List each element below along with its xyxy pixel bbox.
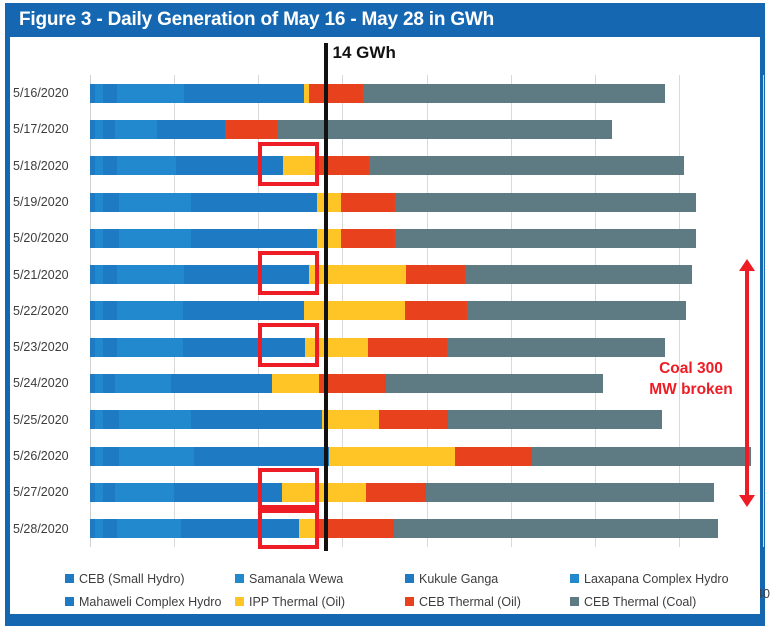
bar-segment[interactable] xyxy=(465,265,692,284)
legend-item[interactable]: CEB (Small Hydro) xyxy=(65,572,185,586)
bar-segment[interactable] xyxy=(191,229,317,248)
bar-segment[interactable] xyxy=(447,338,666,357)
bar-segment[interactable] xyxy=(103,120,115,139)
bar-segment[interactable] xyxy=(119,193,191,212)
legend-item[interactable]: CEB Thermal (Coal) xyxy=(570,595,696,609)
y-axis-category-label: 5/20/2020 xyxy=(13,220,89,256)
legend-item-label: CEB Thermal (Coal) xyxy=(584,595,696,609)
y-axis-category-label: 5/18/2020 xyxy=(13,148,89,184)
bar-segment[interactable] xyxy=(455,447,532,466)
bar-segment[interactable] xyxy=(103,193,118,212)
annotation-arrow-head-up xyxy=(739,259,755,271)
bar-row: 5/22/2020 xyxy=(90,293,763,329)
bar-segment[interactable] xyxy=(317,229,341,248)
stacked-bar[interactable] xyxy=(90,193,696,212)
bar-segment[interactable] xyxy=(329,447,455,466)
y-axis-category-label: 5/16/2020 xyxy=(13,75,89,111)
bar-row: 5/19/2020 xyxy=(90,184,763,220)
bar-segment[interactable] xyxy=(115,374,171,393)
bar-segment[interactable] xyxy=(95,265,103,284)
legend-swatch-icon xyxy=(235,574,244,583)
figure-title-bar: Figure 3 - Daily Generation of May 16 - … xyxy=(5,3,765,37)
bar-row: 5/26/2020 xyxy=(90,438,763,474)
bar-segment[interactable] xyxy=(103,338,116,357)
bar-row: 5/16/2020 xyxy=(90,75,763,111)
bar-segment[interactable] xyxy=(117,84,184,103)
legend-item-label: Laxapana Complex Hydro xyxy=(584,572,729,586)
bar-segment[interactable] xyxy=(119,410,191,429)
stacked-bar[interactable] xyxy=(90,374,603,393)
bar-segment[interactable] xyxy=(103,447,118,466)
highlight-rectangle xyxy=(258,323,319,367)
legend-item-label: Mahaweli Complex Hydro xyxy=(79,595,221,609)
bar-segment[interactable] xyxy=(395,193,696,212)
highlight-rectangle xyxy=(258,505,319,549)
legend-item[interactable]: Mahaweli Complex Hydro xyxy=(65,595,221,609)
legend-item[interactable]: CEB Thermal (Oil) xyxy=(405,595,521,609)
bar-segment[interactable] xyxy=(119,229,191,248)
bar-segment[interactable] xyxy=(194,447,329,466)
bar-segment[interactable] xyxy=(115,120,157,139)
bar-segment[interactable] xyxy=(95,301,103,320)
bar-segment[interactable] xyxy=(386,374,603,393)
bar-segment[interactable] xyxy=(379,410,448,429)
y-axis-category-label: 5/28/2020 xyxy=(13,511,89,547)
y-axis-category-label: 5/22/2020 xyxy=(13,293,89,329)
stacked-bar[interactable] xyxy=(90,301,686,320)
bar-segment[interactable] xyxy=(95,193,103,212)
stacked-bar[interactable] xyxy=(90,120,612,139)
bar-segment[interactable] xyxy=(103,265,116,284)
gridline-x-40 xyxy=(763,75,764,547)
y-axis-category-label: 5/27/2020 xyxy=(13,474,89,510)
bar-segment[interactable] xyxy=(119,447,195,466)
stacked-bar[interactable] xyxy=(90,519,718,538)
bar-segment[interactable] xyxy=(184,84,303,103)
bar-segment[interactable] xyxy=(103,374,115,393)
figure-bottom-strip xyxy=(5,614,765,626)
legend-swatch-icon xyxy=(65,574,74,583)
annotation-text: Coal 300MW broken xyxy=(645,359,737,401)
legend-item[interactable]: Samanala Wewa xyxy=(235,572,343,586)
bar-segment[interactable] xyxy=(319,374,386,393)
legend-item-label: CEB Thermal (Oil) xyxy=(419,595,521,609)
legend-swatch-icon xyxy=(235,597,244,606)
bar-segment[interactable] xyxy=(117,301,183,320)
bar-segment[interactable] xyxy=(95,120,103,139)
bar-segment[interactable] xyxy=(103,156,116,175)
bar-segment[interactable] xyxy=(369,156,684,175)
bar-segment[interactable] xyxy=(368,338,447,357)
legend-item[interactable]: Kukule Ganga xyxy=(405,572,498,586)
annotation-text-line1: Coal 300 xyxy=(645,359,737,380)
stacked-bar[interactable] xyxy=(90,84,665,103)
bar-segment[interactable] xyxy=(406,265,465,284)
legend-swatch-icon xyxy=(405,574,414,583)
bar-row: 5/25/2020 xyxy=(90,402,763,438)
figure-container: Figure 3 - Daily Generation of May 16 - … xyxy=(0,0,770,629)
bar-segment[interactable] xyxy=(309,84,363,103)
bar-segment[interactable] xyxy=(103,84,116,103)
bar-segment[interactable] xyxy=(103,229,118,248)
bar-segment[interactable] xyxy=(225,120,277,139)
bar-segment[interactable] xyxy=(322,410,379,429)
legend-row-top: CEB (Small Hydro)Samanala WewaKukule Gan… xyxy=(10,567,760,590)
page-title: Figure 3 - Daily Generation of May 16 - … xyxy=(19,9,494,31)
legend-swatch-icon xyxy=(570,574,579,583)
bar-segment[interactable] xyxy=(191,410,322,429)
annotation-arrow-shaft xyxy=(745,269,749,497)
bar-segment[interactable] xyxy=(448,410,662,429)
legend-swatch-icon xyxy=(405,597,414,606)
bar-segment[interactable] xyxy=(341,193,395,212)
bar-segment[interactable] xyxy=(103,410,118,429)
legend-item[interactable]: Laxapana Complex Hydro xyxy=(570,572,729,586)
bar-segment[interactable] xyxy=(103,483,115,502)
annotation-text-line2: MW broken xyxy=(645,380,737,401)
stacked-bar[interactable] xyxy=(90,229,696,248)
bar-segment[interactable] xyxy=(95,374,103,393)
y-axis-category-label: 5/26/2020 xyxy=(13,438,89,474)
threshold-label: 14 GWh xyxy=(333,43,396,63)
bar-segment[interactable] xyxy=(467,301,686,320)
bar-row: 5/28/2020 xyxy=(90,511,763,547)
legend-item-label: CEB (Small Hydro) xyxy=(79,572,185,586)
bar-segment[interactable] xyxy=(95,483,103,502)
plot-area: 05101520253035405/16/20205/17/20205/18/2… xyxy=(90,75,763,547)
bar-segment[interactable] xyxy=(395,229,696,248)
stacked-bar[interactable] xyxy=(90,410,662,429)
stacked-bar[interactable] xyxy=(90,265,692,284)
bar-segment[interactable] xyxy=(95,410,103,429)
bar-segment[interactable] xyxy=(272,374,319,393)
highlight-rectangle xyxy=(258,142,319,186)
bar-row: 5/21/2020 xyxy=(90,257,763,293)
y-axis-category-label: 5/23/2020 xyxy=(13,329,89,365)
bar-segment[interactable] xyxy=(103,301,116,320)
bar-row: 5/27/2020 xyxy=(90,474,763,510)
bar-segment[interactable] xyxy=(117,156,176,175)
legend-swatch-icon xyxy=(570,597,579,606)
bar-row: 5/18/2020 xyxy=(90,148,763,184)
legend-item[interactable]: IPP Thermal (Oil) xyxy=(235,595,345,609)
bar-segment[interactable] xyxy=(426,483,714,502)
y-axis-category-label: 5/24/2020 xyxy=(13,365,89,401)
highlight-rectangle xyxy=(258,251,319,295)
y-axis-category-label: 5/21/2020 xyxy=(13,257,89,293)
stacked-bar[interactable] xyxy=(90,156,684,175)
bar-segment[interactable] xyxy=(115,483,174,502)
bar-segment[interactable] xyxy=(171,374,272,393)
bar-segment[interactable] xyxy=(157,120,224,139)
bar-segment[interactable] xyxy=(183,301,304,320)
bar-segment[interactable] xyxy=(95,229,103,248)
bar-segment[interactable] xyxy=(363,84,666,103)
legend-swatch-icon xyxy=(65,597,74,606)
bar-segment[interactable] xyxy=(95,156,103,175)
bar-segment[interactable] xyxy=(95,519,103,538)
bar-segment[interactable] xyxy=(191,193,317,212)
y-axis-category-label: 5/19/2020 xyxy=(13,184,89,220)
plot-panel: 05101520253035405/16/20205/17/20205/18/2… xyxy=(10,37,760,559)
bar-segment[interactable] xyxy=(95,84,103,103)
bar-segment[interactable] xyxy=(341,229,395,248)
stacked-bar[interactable] xyxy=(90,447,751,466)
bar-row: 5/20/2020 xyxy=(90,220,763,256)
threshold-line xyxy=(324,43,328,551)
bar-segment[interactable] xyxy=(103,519,116,538)
bar-segment[interactable] xyxy=(117,265,184,284)
bar-segment[interactable] xyxy=(117,338,183,357)
legend-row-bottom: Mahaweli Complex HydroIPP Thermal (Oil)C… xyxy=(10,590,760,613)
bar-segment[interactable] xyxy=(394,519,717,538)
stacked-bar[interactable] xyxy=(90,483,714,502)
bar-segment[interactable] xyxy=(366,483,427,502)
annotation-arrow-head-down xyxy=(739,495,755,507)
stacked-bar[interactable] xyxy=(90,338,665,357)
bar-segment[interactable] xyxy=(95,447,103,466)
legend-item-label: Samanala Wewa xyxy=(249,572,343,586)
y-axis-category-label: 5/25/2020 xyxy=(13,402,89,438)
legend-item-label: Kukule Ganga xyxy=(419,572,498,586)
bar-row: 5/17/2020 xyxy=(90,111,763,147)
legend-item-label: IPP Thermal (Oil) xyxy=(249,595,345,609)
bar-segment[interactable] xyxy=(317,193,341,212)
bar-segment[interactable] xyxy=(532,447,751,466)
y-axis-category-label: 5/17/2020 xyxy=(13,111,89,147)
bar-segment[interactable] xyxy=(304,301,405,320)
chart-legend: CEB (Small Hydro)Samanala WewaKukule Gan… xyxy=(10,562,760,614)
bar-segment[interactable] xyxy=(405,301,467,320)
bar-segment[interactable] xyxy=(117,519,181,538)
bar-segment[interactable] xyxy=(95,338,103,357)
